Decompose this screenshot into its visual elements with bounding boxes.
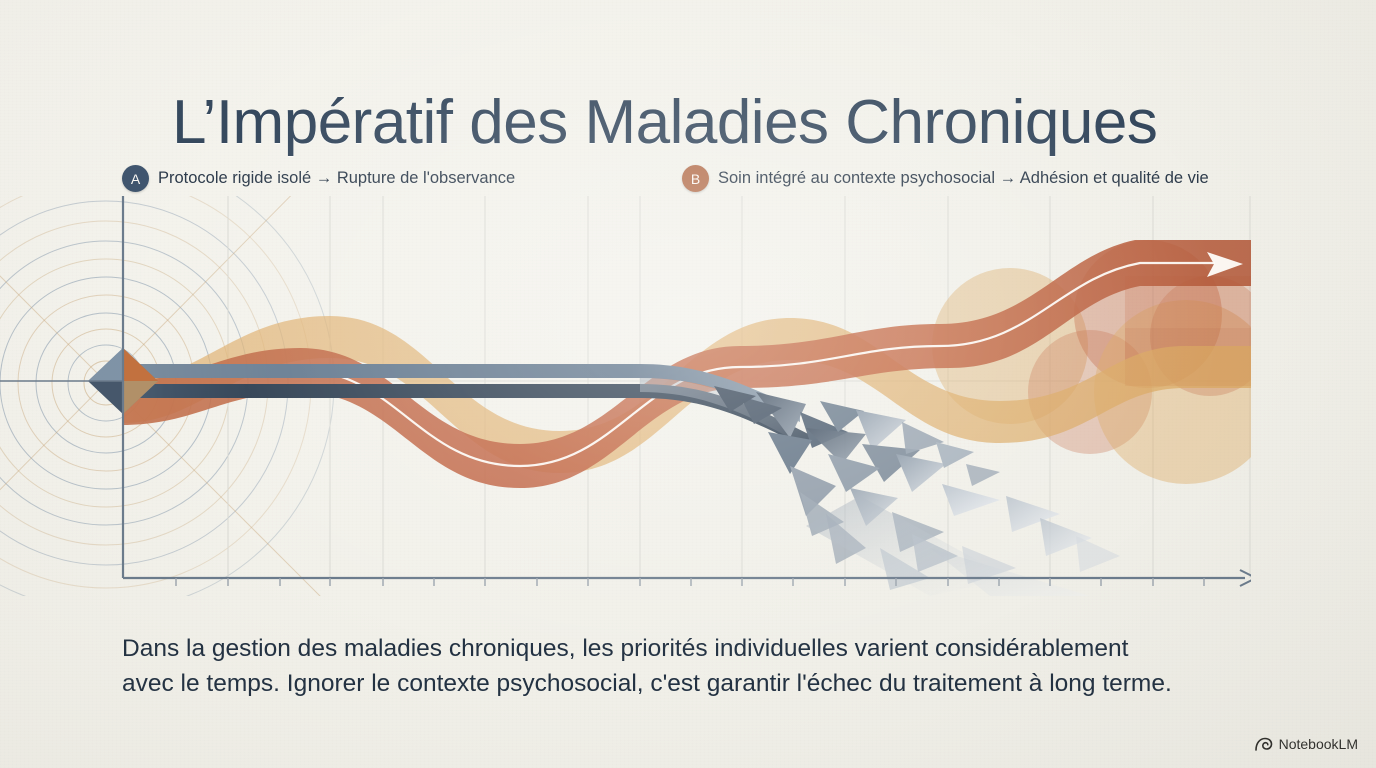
badge-b-icon: B	[682, 165, 709, 192]
watermark-label: NotebookLM	[1279, 736, 1358, 752]
slide-canvas: L’Impératif des Maladies Chroniques A Pr…	[0, 0, 1376, 768]
watermark: NotebookLM	[1254, 736, 1358, 752]
chart-area	[0, 196, 1376, 596]
page-title: L’Impératif des Maladies Chroniques	[172, 90, 1272, 155]
legend-label-b: Soin intégré au contexte psychosocial → …	[718, 169, 1209, 188]
legend: A Protocole rigide isolé → Rupture de l'…	[122, 165, 1262, 195]
caption: Dans la gestion des maladies chroniques,…	[122, 632, 1272, 702]
caption-line-1: Dans la gestion des maladies chroniques,…	[122, 632, 1272, 667]
notebooklm-logo-icon	[1254, 737, 1273, 752]
caption-line-2: avec le temps. Ignorer le contexte psych…	[122, 667, 1272, 702]
legend-item-b[interactable]: B Soin intégré au contexte psychosocial …	[682, 165, 1209, 192]
legend-label-a: Protocole rigide isolé → Rupture de l'ob…	[158, 169, 515, 188]
badge-a-icon: A	[122, 165, 149, 192]
legend-item-a[interactable]: A Protocole rigide isolé → Rupture de l'…	[122, 165, 515, 192]
